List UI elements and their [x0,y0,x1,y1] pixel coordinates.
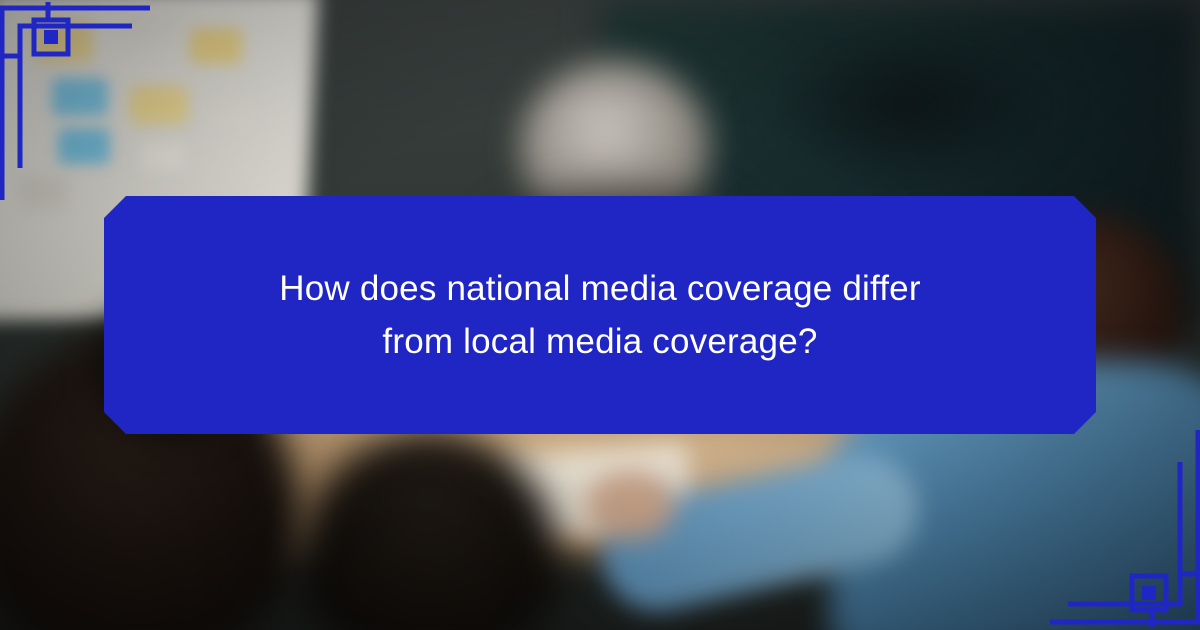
headline-text: How does national media coverage differ … [240,262,960,368]
headline-banner: How does national media coverage differ … [104,196,1096,434]
social-card: How does national media coverage differ … [0,0,1200,630]
